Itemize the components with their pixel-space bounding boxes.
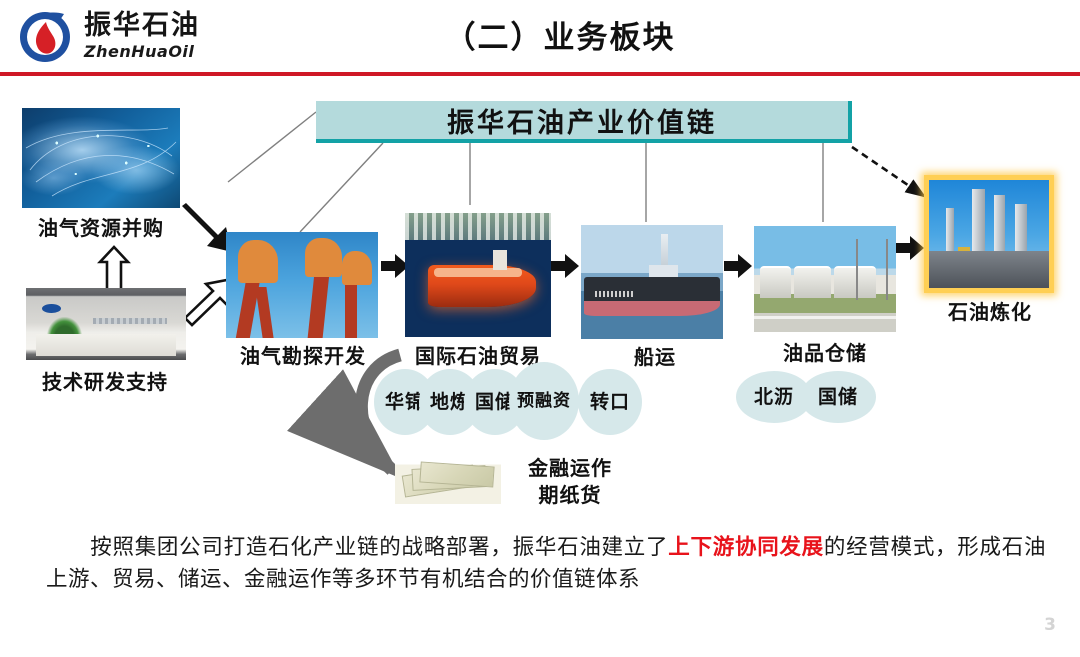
caption-exploration: 油气勘探开发 <box>206 340 400 369</box>
finance-caption-line2: 期纸货 <box>500 482 640 509</box>
bubble-trading-5: 转口 <box>578 369 642 435</box>
zhenhua-logo-icon <box>12 8 78 66</box>
image-refinery-plant <box>924 175 1054 293</box>
body-paragraph: 按照集团公司打造石化产业链的战略部署，振华石油建立了上下游协同发展的经营模式，形… <box>46 532 1046 596</box>
brand-name-cn: 振华石油 <box>84 10 254 42</box>
caption-refining: 石油炼化 <box>924 296 1056 325</box>
page-number: 3 <box>1044 615 1056 635</box>
caption-rnd-support: 技术研发支持 <box>10 366 200 395</box>
image-dollar-bills <box>395 456 501 504</box>
image-office-reception <box>26 288 186 360</box>
tanker-superstructure <box>493 250 508 270</box>
port-terminal <box>405 213 551 240</box>
caption-shipping: 船运 <box>610 341 700 370</box>
bubble-storage-1-label: 北沥 <box>754 387 794 408</box>
body-part-1: 按照集团公司打造石化产业链的战略部署，振华石油建立了 <box>90 535 668 560</box>
office-logo-badge <box>42 304 61 313</box>
caption-storage: 油品仓储 <box>742 337 908 366</box>
office-counter <box>36 334 177 356</box>
ship-hull <box>584 277 720 316</box>
finance-caption-line1: 金融运作 <box>500 455 640 482</box>
ship-name-text <box>595 291 635 297</box>
header-divider <box>0 72 1080 76</box>
image-oil-storage-tanks <box>754 226 896 332</box>
brand-wordmark: 振华石油 ZhenHuaOil <box>84 10 254 66</box>
slide-canvas: 振华石油 ZhenHuaOil （二）业务板块 <box>0 0 1080 657</box>
finance-caption: 金融运作 期纸货 <box>500 455 640 509</box>
bubble-trading-5-label: 转口 <box>590 392 630 413</box>
tanker-deck <box>434 268 522 278</box>
brand-name-en: ZhenHuaOil <box>84 42 254 61</box>
image-oil-pumpjack <box>226 232 378 338</box>
image-cargo-ship <box>581 225 723 339</box>
image-oil-tanker-port <box>405 213 551 337</box>
value-chain-banner: 振华石油产业价值链 <box>316 101 852 143</box>
caption-acquisition: 油气资源并购 <box>6 212 196 241</box>
page-title: （二）业务板块 <box>300 12 820 57</box>
slide-header: 振华石油 ZhenHuaOil （二）业务板块 <box>0 0 1080 76</box>
bubble-trading-4: 预融资 <box>509 362 579 440</box>
refinery-base <box>929 251 1049 288</box>
bubble-storage-2: 国储 <box>800 371 876 423</box>
bubble-trading-4-label: 预融资 <box>517 392 571 411</box>
body-highlight: 上下游协同发展 <box>668 535 824 560</box>
bubble-storage-2-label: 国储 <box>818 387 858 408</box>
office-sign <box>93 318 167 324</box>
guard-rail <box>754 316 896 319</box>
value-chain-banner-label: 振华石油产业价值链 <box>447 101 717 140</box>
image-world-map-network <box>22 108 180 208</box>
